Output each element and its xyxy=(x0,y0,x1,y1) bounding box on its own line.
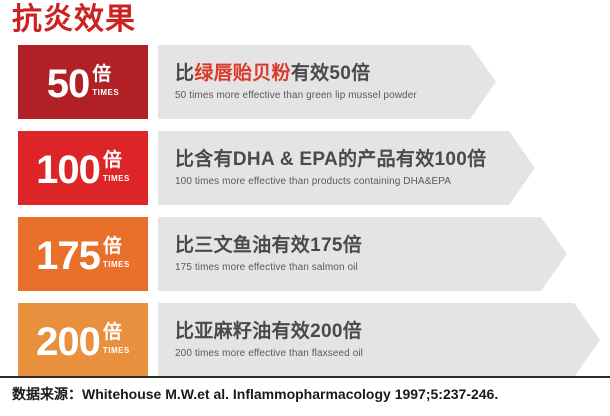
multiplier-badge-inner: 175倍TIMES xyxy=(36,232,130,276)
claim-text-block: 比绿唇贻贝粉有效50倍50 times more effective than … xyxy=(175,45,417,119)
multiplier-value: 175 xyxy=(36,234,100,278)
claim-subline-en: 200 times more effective than flaxseed o… xyxy=(175,347,363,361)
footer-divider xyxy=(0,376,610,378)
claim-headline-cn: 比亚麻籽油有效200倍 xyxy=(175,320,363,344)
claim-headline-cn: 比绿唇贻贝粉有效50倍 xyxy=(175,62,417,86)
multiplier-unit-en: TIMES xyxy=(92,88,119,98)
claim-text-block: 比亚麻籽油有效200倍200 times more effective than… xyxy=(175,303,363,377)
claim-subline-en: 175 times more effective than salmon oil xyxy=(175,261,362,275)
multiplier-badge: 100倍TIMES xyxy=(18,131,148,205)
claim-subline-en: 100 times more effective than products c… xyxy=(175,175,486,189)
multiplier-badge-inner: 200倍TIMES xyxy=(36,318,130,362)
multiplier-unit-en: TIMES xyxy=(103,346,130,356)
multiplier-badge-inner: 100倍TIMES xyxy=(36,146,130,190)
multiplier-value: 50 xyxy=(47,62,90,106)
claim-plain-term: 有效50倍 xyxy=(291,63,371,84)
page-title: 抗炎效果 xyxy=(12,2,136,38)
comparison-row: 175倍TIMES比三文鱼油有效175倍175 times more effec… xyxy=(0,217,610,291)
multiplier-unit-en: TIMES xyxy=(103,260,130,270)
claim-headline-cn: 比含有DHA & EPA的产品有效100倍 xyxy=(175,148,486,172)
multiplier-badge: 200倍TIMES xyxy=(18,303,148,377)
multiplier-unit-cn: 倍 xyxy=(103,322,122,343)
multiplier-badge: 50倍TIMES xyxy=(18,45,148,119)
multiplier-suffix: 倍TIMES xyxy=(103,236,130,270)
claim-plain-term: 比亚麻籽油有效200倍 xyxy=(175,321,362,342)
claim-subline-en: 50 times more effective than green lip m… xyxy=(175,89,417,103)
claim-highlight-term: 绿唇贻贝粉 xyxy=(194,63,291,84)
multiplier-value: 100 xyxy=(36,148,100,192)
claim-text-block: 比含有DHA & EPA的产品有效100倍100 times more effe… xyxy=(175,131,486,205)
claim-plain-term: 比含有DHA & EPA的产品有效100倍 xyxy=(175,149,486,170)
claim-plain-term: 比三文鱼油有效175倍 xyxy=(175,235,362,256)
comparison-row: 200倍TIMES比亚麻籽油有效200倍200 times more effec… xyxy=(0,303,610,377)
comparison-row-list: 50倍TIMES比绿唇贻贝粉有效50倍50 times more effecti… xyxy=(0,45,610,389)
claim-arrow-banner: 比含有DHA & EPA的产品有效100倍100 times more effe… xyxy=(158,131,535,205)
multiplier-unit-cn: 倍 xyxy=(103,236,122,257)
multiplier-suffix: 倍TIMES xyxy=(92,64,119,98)
multiplier-value: 200 xyxy=(36,320,100,364)
source-citation: 数据来源：Whitehouse M.W.et al. Inflammopharm… xyxy=(12,384,498,404)
claim-arrow-banner: 比亚麻籽油有效200倍200 times more effective than… xyxy=(158,303,600,377)
comparison-row: 100倍TIMES比含有DHA & EPA的产品有效100倍100 times … xyxy=(0,131,610,205)
multiplier-badge-inner: 50倍TIMES xyxy=(47,60,119,104)
multiplier-badge: 175倍TIMES xyxy=(18,217,148,291)
multiplier-suffix: 倍TIMES xyxy=(103,322,130,356)
claim-arrow-banner: 比绿唇贻贝粉有效50倍50 times more effective than … xyxy=(158,45,496,119)
infographic-root: 抗炎效果 50倍TIMES比绿唇贻贝粉有效50倍50 times more ef… xyxy=(0,0,610,416)
multiplier-unit-cn: 倍 xyxy=(103,150,122,171)
claim-arrow-banner: 比三文鱼油有效175倍175 times more effective than… xyxy=(158,217,567,291)
claim-headline-cn: 比三文鱼油有效175倍 xyxy=(175,234,362,258)
multiplier-unit-en: TIMES xyxy=(103,174,130,184)
claim-plain-term: 比 xyxy=(175,63,194,84)
multiplier-suffix: 倍TIMES xyxy=(103,150,130,184)
comparison-row: 50倍TIMES比绿唇贻贝粉有效50倍50 times more effecti… xyxy=(0,45,610,119)
claim-text-block: 比三文鱼油有效175倍175 times more effective than… xyxy=(175,217,362,291)
multiplier-unit-cn: 倍 xyxy=(92,64,111,85)
